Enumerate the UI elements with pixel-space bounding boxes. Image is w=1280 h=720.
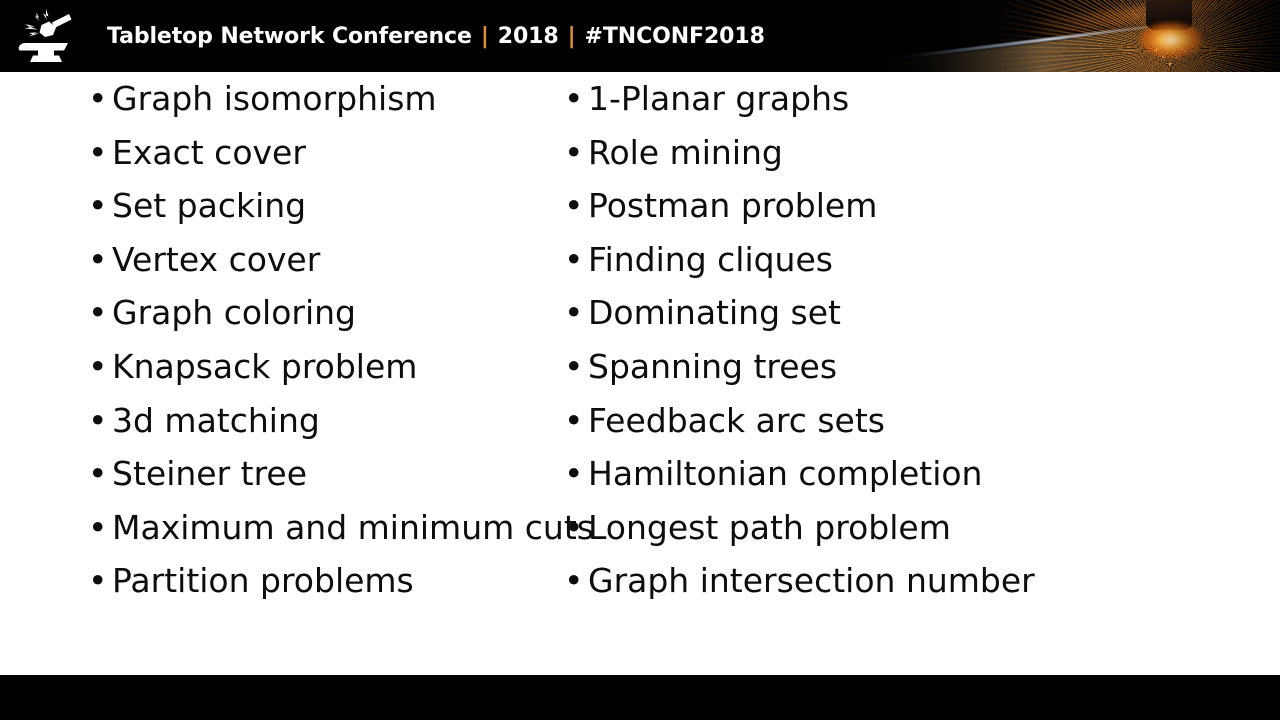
list-item-label: Graph intersection number — [588, 561, 1035, 600]
list-item: •Role mining — [564, 126, 1192, 180]
bullet-icon: • — [88, 501, 107, 555]
list-item-label: Vertex cover — [112, 240, 320, 279]
list-item-label: Set packing — [112, 186, 306, 225]
list-item-label: Steiner tree — [112, 454, 307, 493]
welding-sparks-decoration — [850, 0, 1280, 72]
list-item: •Dominating set — [564, 286, 1192, 340]
list-item-label: Graph isomorphism — [112, 79, 437, 118]
list-item: •Graph coloring — [88, 286, 562, 340]
art-fade-right — [1160, 0, 1280, 72]
list-item-label: Finding cliques — [588, 240, 833, 279]
presentation-slide: Tabletop Network Conference | 2018 | #TN… — [0, 0, 1280, 720]
bullet-icon: • — [88, 447, 107, 501]
bullet-icon: • — [564, 233, 583, 287]
bullet-icon: • — [564, 501, 583, 555]
list-item: •Knapsack problem — [88, 340, 562, 394]
bullet-icon: • — [564, 394, 583, 448]
list-item-label: 1-Planar graphs — [588, 79, 849, 118]
list-item: •Postman problem — [564, 179, 1192, 233]
list-item-label: Role mining — [588, 133, 783, 172]
bullet-icon: • — [88, 394, 107, 448]
bullet-icon: • — [564, 447, 583, 501]
list-item: •Exact cover — [88, 126, 562, 180]
header-separator-1: | — [472, 24, 498, 49]
list-item: •Graph isomorphism — [88, 72, 562, 126]
conference-name: Tabletop Network Conference — [107, 24, 472, 49]
list-item-label: Postman problem — [588, 186, 877, 225]
list-item-label: Longest path problem — [588, 508, 951, 547]
list-item-label: 3d matching — [112, 401, 320, 440]
art-fade-left — [850, 0, 1050, 72]
list-item: •Graph intersection number — [564, 554, 1192, 608]
left-bullet-list: •Graph isomorphism •Exact cover •Set pac… — [88, 72, 562, 608]
list-item: •Vertex cover — [88, 233, 562, 287]
bullet-icon: • — [564, 554, 583, 608]
bullet-icon: • — [88, 179, 107, 233]
list-item: •Feedback arc sets — [564, 394, 1192, 448]
right-column: •1-Planar graphs •Role mining •Postman p… — [562, 72, 1192, 608]
header-separator-2: | — [559, 24, 585, 49]
bullet-icon: • — [88, 286, 107, 340]
bullet-icon: • — [564, 179, 583, 233]
bullet-icon: • — [564, 126, 583, 180]
list-item: •Spanning trees — [564, 340, 1192, 394]
bullet-icon: • — [564, 286, 583, 340]
slide-content: •Graph isomorphism •Exact cover •Set pac… — [0, 72, 1280, 675]
list-item: •Set packing — [88, 179, 562, 233]
conference-hashtag: #TNCONF2018 — [585, 24, 765, 49]
anvil-hammer-icon — [16, 7, 76, 65]
bullet-icon: • — [564, 340, 583, 394]
left-column: •Graph isomorphism •Exact cover •Set pac… — [0, 72, 562, 608]
list-item-label: Hamiltonian completion — [588, 454, 982, 493]
list-item-label: Partition problems — [112, 561, 414, 600]
list-item: •1-Planar graphs — [564, 72, 1192, 126]
bullet-icon: • — [564, 72, 583, 126]
list-item: •Maximum and minimum cuts — [88, 501, 562, 555]
list-item-label: Feedback arc sets — [588, 401, 885, 440]
slide-footer-bar — [0, 675, 1280, 720]
bullet-icon: • — [88, 554, 107, 608]
list-item-label: Spanning trees — [588, 347, 837, 386]
list-item: •Longest path problem — [564, 501, 1192, 555]
bullet-icon: • — [88, 72, 107, 126]
list-item: •Steiner tree — [88, 447, 562, 501]
two-column-layout: •Graph isomorphism •Exact cover •Set pac… — [0, 72, 1280, 608]
slide-header-bar: Tabletop Network Conference | 2018 | #TN… — [0, 0, 1280, 72]
bullet-icon: • — [88, 340, 107, 394]
list-item-label: Dominating set — [588, 293, 841, 332]
list-item: •Finding cliques — [564, 233, 1192, 287]
header-title: Tabletop Network Conference | 2018 | #TN… — [107, 0, 765, 72]
list-item-label: Knapsack problem — [112, 347, 417, 386]
list-item: •Partition problems — [88, 554, 562, 608]
bullet-icon: • — [88, 233, 107, 287]
conference-year: 2018 — [498, 24, 559, 49]
list-item-label: Maximum and minimum cuts — [112, 508, 594, 547]
list-item-label: Exact cover — [112, 133, 306, 172]
list-item-label: Graph coloring — [112, 293, 356, 332]
right-bullet-list: •1-Planar graphs •Role mining •Postman p… — [564, 72, 1192, 608]
list-item: •Hamiltonian completion — [564, 447, 1192, 501]
bullet-icon: • — [88, 126, 107, 180]
list-item: •3d matching — [88, 394, 562, 448]
